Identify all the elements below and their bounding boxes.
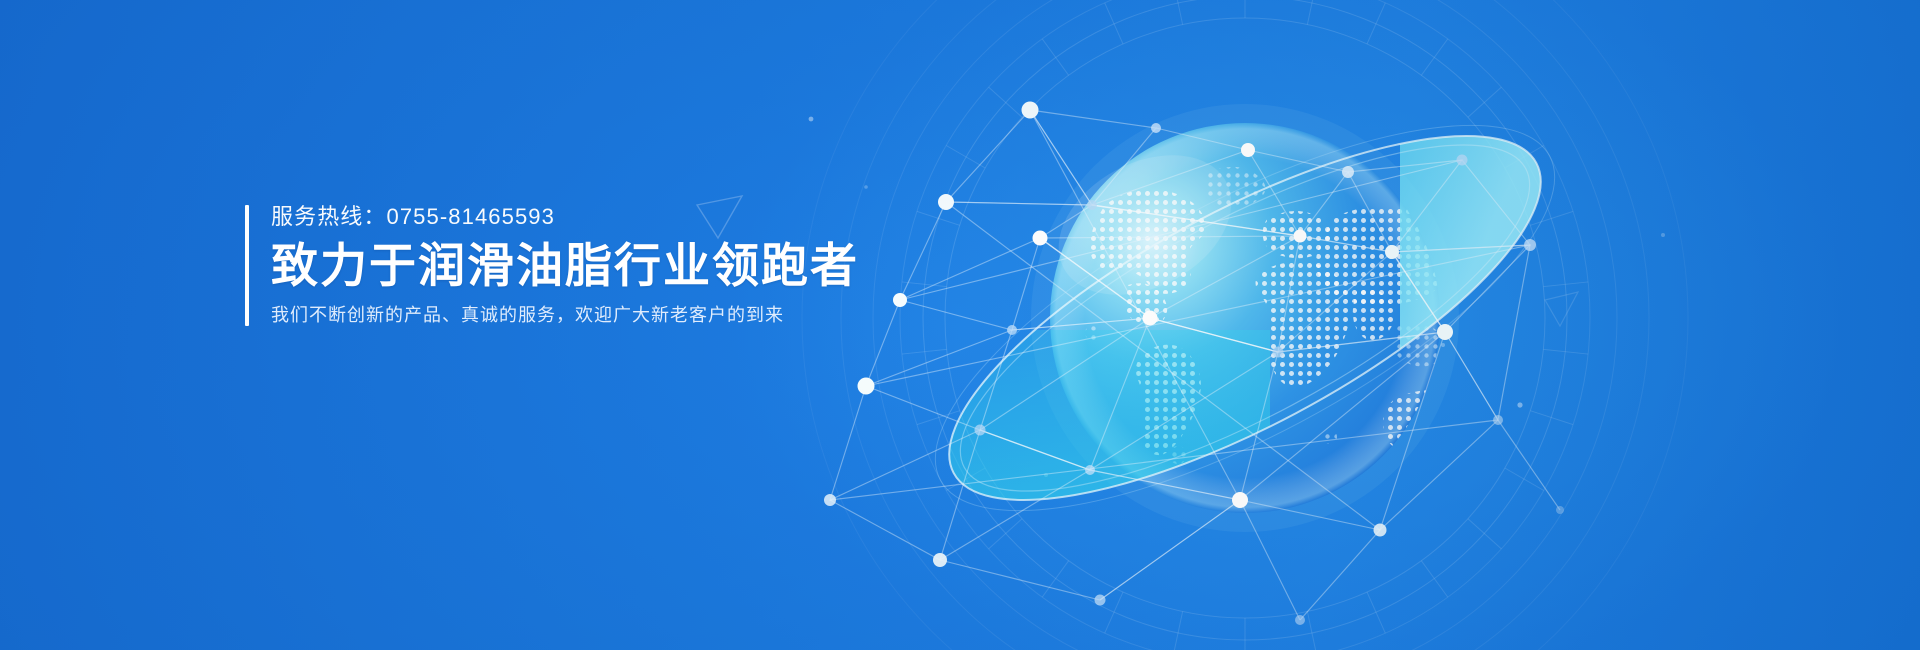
banner-copy: 服务热线：0755-81465593 致力于润滑油脂行业领跑者 我们不断创新的产… bbox=[245, 203, 859, 327]
subline-text: 我们不断创新的产品、真诚的服务，欢迎广大新老客户的到来 bbox=[271, 304, 859, 327]
hotline-text: 服务热线：0755-81465593 bbox=[271, 203, 859, 231]
headline-text: 致力于润滑油脂行业领跑者 bbox=[271, 238, 859, 293]
hero-banner: 服务热线：0755-81465593 致力于润滑油脂行业领跑者 我们不断创新的产… bbox=[0, 0, 1920, 650]
network-mesh-lines bbox=[830, 110, 1560, 620]
network-node-dots bbox=[824, 102, 1564, 626]
accent-bar bbox=[245, 205, 249, 326]
